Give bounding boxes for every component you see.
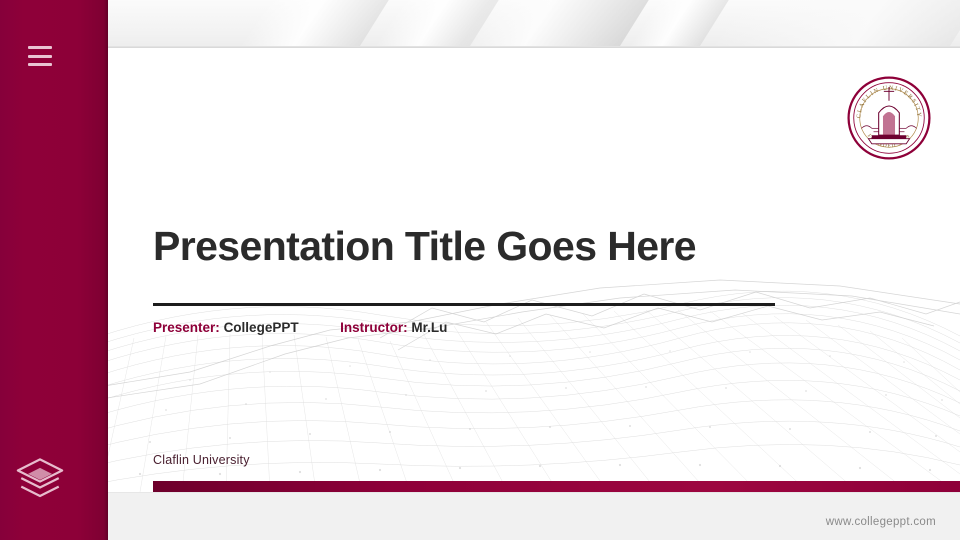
app-window: CLAFLIN UNIVERSITY FOUNDED 1869 Presenta… [0, 0, 960, 540]
instructor-name: Mr.Lu [411, 320, 447, 335]
app-footer-bar [0, 492, 960, 540]
slide-canvas[interactable]: CLAFLIN UNIVERSITY FOUNDED 1869 Presenta… [80, 48, 960, 492]
app-header-strip [0, 0, 960, 48]
university-seal-icon: CLAFLIN UNIVERSITY FOUNDED 1869 [846, 75, 932, 161]
title-divider [153, 303, 775, 306]
sidebar-edge-shadow [104, 0, 108, 540]
presenter-name: CollegePPT [224, 320, 299, 335]
site-url: www.collegeppt.com [826, 516, 936, 528]
slide-accent-bar [153, 481, 960, 492]
hamburger-bar [28, 46, 52, 49]
layers-stack-icon[interactable] [14, 456, 66, 502]
slide-credits: Presenter: CollegePPT Instructor: Mr.Lu [153, 320, 447, 335]
hamburger-bar [28, 63, 52, 66]
left-sidebar [0, 0, 108, 540]
presenter-label: Presenter: [153, 320, 220, 335]
instructor-label: Instructor: [340, 320, 408, 335]
hamburger-menu-icon[interactable] [28, 46, 52, 66]
slide-title: Presentation Title Goes Here [153, 224, 893, 269]
organization-name: Claflin University [153, 453, 250, 467]
hamburger-bar [28, 55, 52, 58]
